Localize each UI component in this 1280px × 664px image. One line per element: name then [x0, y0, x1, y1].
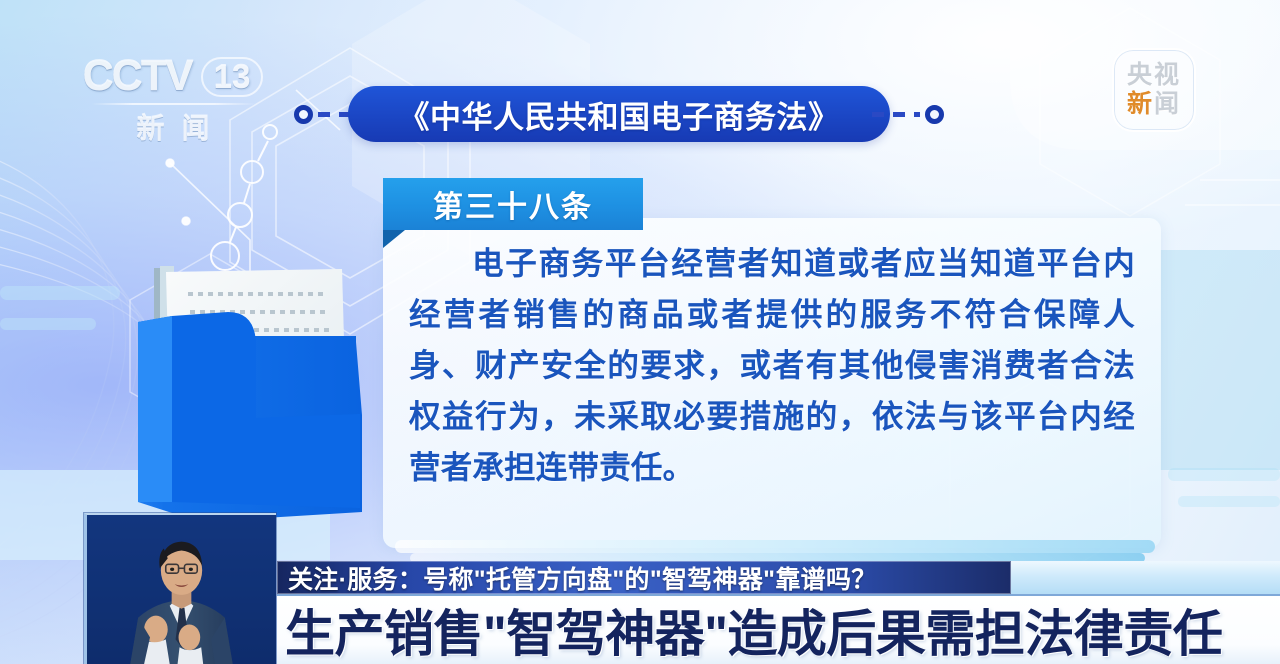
- kicker-text: 关注·服务：号称"托管方向盘"的"智驾神器"靠谱吗？: [288, 560, 877, 596]
- anchor-figure: [87, 515, 276, 664]
- badge-highlight-char: 新: [1127, 90, 1154, 118]
- broadcast-screen: CCTV 13 新闻 央视 新闻: [0, 0, 1280, 664]
- anchor-video-inset: [84, 513, 276, 664]
- channel-number: 13: [201, 57, 264, 97]
- lower-third-kicker: 关注·服务：号称"托管方向盘"的"智驾神器"靠谱吗？: [277, 561, 1011, 594]
- law-title-pill: 《中华人民共和国电子商务法》: [348, 86, 890, 142]
- badge-line-1: 央视: [1127, 62, 1181, 89]
- badge-rest-char: 闻: [1154, 90, 1181, 118]
- ring-dot-right-icon: [925, 105, 944, 124]
- law-title-group: 《中华人民共和国电子商务法》: [294, 86, 944, 142]
- kicker-right-filler: [1011, 561, 1280, 594]
- cctv13-logo: CCTV 13 新闻: [78, 52, 268, 157]
- dashed-connector-right-icon: [872, 112, 920, 117]
- cctv-wordmark: CCTV: [83, 52, 192, 101]
- article-number-text: 第三十八条: [433, 182, 593, 226]
- article-body-text: 电子商务平台经营者知道或者应当知道平台内经营者销售的商品或者提供的服务不符合保障…: [409, 238, 1135, 493]
- logo-divider: [91, 103, 256, 105]
- headline-text: 生产销售"智驾神器"造成后果需担法律责任: [285, 594, 1222, 664]
- card-base-strip-1: [395, 540, 1155, 553]
- badge-line-2: 新闻: [1127, 91, 1181, 118]
- open-book-illustration: [110, 250, 390, 540]
- cctv-news-app-badge: 央视 新闻: [1112, 48, 1196, 132]
- law-title-text: 《中华人民共和国电子商务法》: [399, 92, 840, 137]
- ring-dot-left-icon: [294, 105, 313, 124]
- channel-name: 新闻: [78, 107, 268, 147]
- article-number-tag: 第三十八条: [383, 178, 643, 230]
- lower-third-headline: 生产销售"智驾神器"造成后果需担法律责任: [277, 594, 1280, 664]
